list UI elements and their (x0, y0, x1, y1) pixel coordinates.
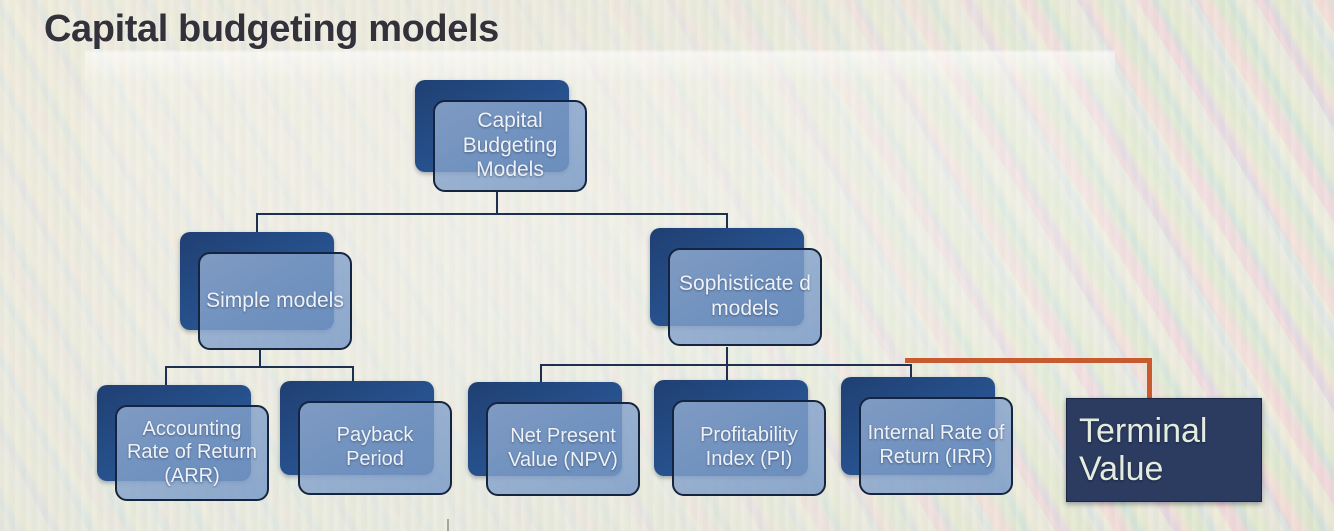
node-net-present-value[interactable]: Net Present Value (NPV) (468, 382, 640, 496)
annotation-label: Terminal Value (1067, 412, 1261, 488)
connector-terminal-value-vertical (1147, 358, 1152, 400)
node-label: Capital Budgeting Models (433, 100, 587, 192)
node-label: Payback Period (298, 401, 452, 495)
annotation-terminal-value[interactable]: Terminal Value (1066, 398, 1262, 502)
node-label: Net Present Value (NPV) (486, 402, 640, 496)
node-internal-rate-of-return[interactable]: Internal Rate of Return (IRR) (841, 377, 1013, 495)
node-simple-models[interactable]: Simple models (180, 232, 352, 350)
connector-root-bar (256, 213, 728, 215)
node-profitability-index[interactable]: Profitability Index (PI) (654, 380, 826, 496)
connector-sophisticated-stem (726, 347, 728, 365)
node-label: Accounting Rate of Return (ARR) (115, 405, 269, 501)
screen-glare (85, 52, 1115, 82)
connector-terminal-value-horizontal (905, 358, 1152, 363)
node-capital-budgeting-models[interactable]: Capital Budgeting Models (415, 80, 587, 192)
node-label: Internal Rate of Return (IRR) (859, 397, 1013, 495)
connector-simple-bar (165, 366, 354, 368)
node-sophisticated-models[interactable]: Sophisticate d models (650, 228, 822, 346)
page-title: Capital budgeting models (44, 8, 499, 51)
connector-simple-stem (259, 349, 261, 367)
node-payback-period[interactable]: Payback Period (280, 381, 452, 495)
connector-simple-to-arr (165, 366, 167, 386)
node-label: Profitability Index (PI) (672, 400, 826, 496)
node-label: Simple models (198, 252, 352, 350)
connector-root-stem (496, 190, 498, 214)
slide-photo-stage: Capital budgeting models Capital Budgeti… (0, 0, 1334, 531)
node-accounting-rate-of-return[interactable]: Accounting Rate of Return (ARR) (97, 385, 269, 501)
bottom-cursor-tick (447, 519, 449, 531)
node-label: Sophisticate d models (668, 248, 822, 346)
